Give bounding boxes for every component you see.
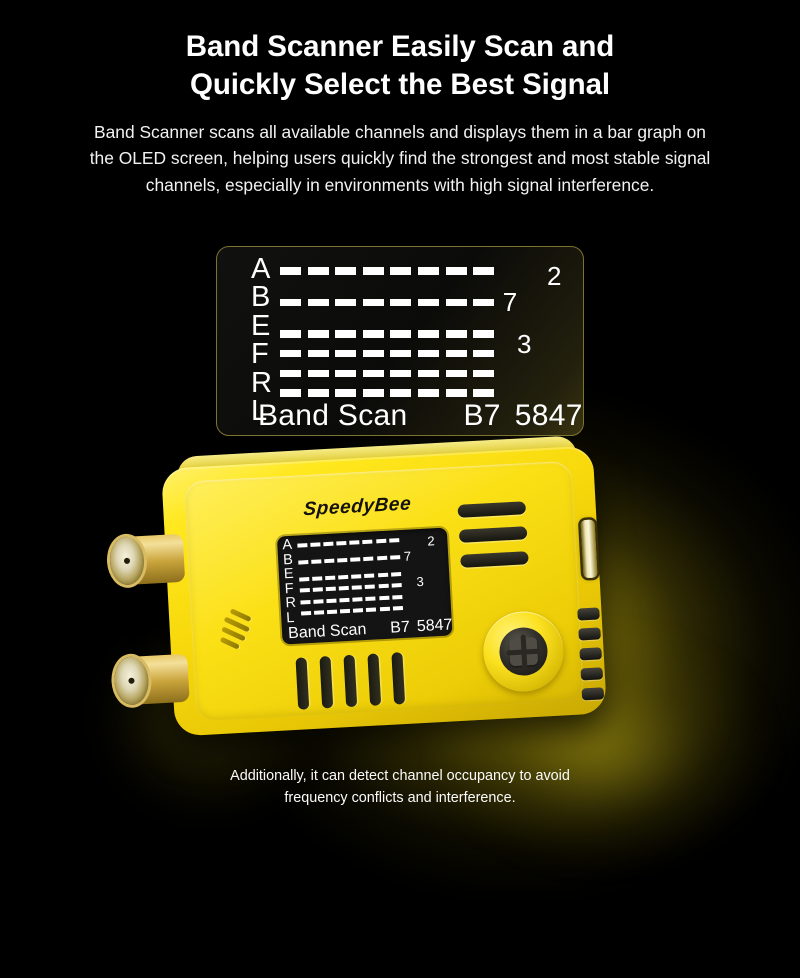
- hero-status-mode: Band Scan: [258, 399, 407, 433]
- sma-antenna-connector-bottom: [113, 654, 189, 706]
- scan-dash: [301, 611, 311, 616]
- scan-row-f: [280, 350, 530, 358]
- scan-dash: [280, 299, 301, 307]
- scan-dash: [390, 389, 411, 397]
- scan-dash: [280, 350, 301, 358]
- device-status-band: B7: [390, 619, 411, 638]
- hero-status-frequency: 5847: [515, 399, 583, 433]
- scan-dash: [326, 587, 336, 592]
- scan-dash: [418, 299, 439, 307]
- scan-dash: [389, 538, 399, 543]
- hero-status-band: B7: [463, 399, 500, 433]
- scan-dash: [418, 370, 439, 378]
- scan-dash: [418, 330, 439, 338]
- scan-dash: [363, 267, 384, 275]
- scan-dash: [390, 267, 411, 275]
- scan-dash: [335, 330, 356, 338]
- speedybee-band-scanner-device: SpeedyBee ABEFRL 7 2 3 Band Scan B7 5847: [161, 446, 607, 737]
- scan-dash: [308, 267, 329, 275]
- scan-dash: [335, 299, 356, 307]
- scan-dash: [300, 588, 310, 593]
- scan-dash: [363, 350, 384, 358]
- scan-bar-e: [280, 330, 501, 338]
- scan-dash: [391, 583, 401, 588]
- scan-dash: [390, 330, 411, 338]
- scan-dash: [363, 540, 373, 545]
- description-paragraph: Band Scanner scans all available channel…: [80, 119, 720, 198]
- hero-status-spacer: [407, 399, 463, 433]
- scan-dash: [366, 607, 376, 612]
- footnote-line-2: frequency conflicts and interference.: [0, 787, 800, 809]
- scan-dash: [390, 299, 411, 307]
- hero-status-bar: Band Scan B7 5847: [258, 399, 583, 433]
- scan-row-b: 7: [298, 549, 419, 570]
- scan-bar-a: [280, 267, 501, 275]
- scan-dash: [327, 610, 337, 615]
- band-letter-f: F: [251, 340, 272, 368]
- scan-dash: [337, 558, 347, 563]
- scan-dash: [310, 542, 320, 547]
- scan-dash: [446, 389, 467, 397]
- scan-row-r: [300, 594, 420, 604]
- sma-antenna-connector-top: [109, 534, 185, 586]
- scan-row-a: [280, 267, 530, 275]
- scan-dash: [313, 587, 323, 592]
- device-status-spacer: [366, 620, 391, 639]
- band-letter-e: E: [251, 312, 272, 340]
- device-stage: SpeedyBee ABEFRL 7 2 3 Band Scan B7 5847: [0, 443, 800, 763]
- scan-dash: [280, 267, 301, 275]
- device-front-panel: SpeedyBee ABEFRL 7 2 3 Band Scan B7 5847: [184, 461, 584, 722]
- scan-row-value-b: 7: [503, 287, 517, 318]
- scan-dash: [351, 557, 361, 562]
- scan-dash: [473, 267, 494, 275]
- scan-dash: [350, 540, 360, 545]
- scan-dash: [353, 608, 363, 613]
- left-vent-grille: [213, 604, 266, 657]
- scan-dash: [324, 559, 334, 564]
- joystick-stick[interactable]: [509, 637, 538, 666]
- scan-bar-r: [280, 370, 501, 378]
- scan-bar-e: [299, 572, 404, 582]
- scan-dash: [473, 299, 494, 307]
- hero-scan-rows: 7: [280, 267, 530, 397]
- scan-row-e: [280, 330, 530, 338]
- scan-dash: [393, 606, 403, 611]
- scan-dash: [280, 389, 301, 397]
- band-letter-a: A: [251, 255, 272, 283]
- device-status-bar: Band Scan B7 5847: [288, 616, 453, 643]
- headline-line-1: Band Scanner Easily Scan and: [0, 28, 800, 66]
- scan-dash: [308, 370, 329, 378]
- hero-oled-display: ABEFRL 7 2 3 Band Scan B7 5847: [216, 246, 584, 436]
- scan-dash: [335, 389, 356, 397]
- scan-bar-l: [301, 606, 406, 616]
- band-letter-r: R: [285, 596, 296, 611]
- scan-dash: [340, 609, 350, 614]
- scan-dash: [299, 577, 309, 582]
- speedybee-logo: SpeedyBee: [303, 493, 412, 521]
- scan-dash: [365, 585, 375, 590]
- scan-dash: [308, 389, 329, 397]
- scan-row-f: [300, 582, 420, 592]
- scan-bar-b: [280, 299, 501, 307]
- device-status-mode: Band Scan: [288, 621, 367, 643]
- scan-bar-l: [280, 389, 501, 397]
- scan-dash: [363, 370, 384, 378]
- scan-dash: [364, 556, 374, 561]
- scan-dash: [473, 350, 494, 358]
- scan-dash: [337, 541, 347, 546]
- headline-line-2: Quickly Select the Best Signal: [0, 66, 800, 104]
- scan-dash: [312, 576, 322, 581]
- scan-row-l: [301, 605, 421, 615]
- scan-dash: [280, 370, 301, 378]
- hero-side-number-top: 2: [547, 261, 561, 292]
- scan-bar-f: [280, 350, 501, 358]
- scan-dash: [353, 597, 363, 602]
- scan-dash: [473, 330, 494, 338]
- header-text-block: Band Scanner Easily Scan and Quickly Sel…: [0, 28, 800, 198]
- scan-dash: [327, 598, 337, 603]
- bottom-vent-grille: [295, 652, 410, 712]
- scan-dash: [308, 350, 329, 358]
- scan-dash: [366, 596, 376, 601]
- scan-dash: [391, 572, 401, 577]
- scan-dash: [340, 597, 350, 602]
- scan-bar-a: [297, 538, 402, 548]
- scan-dash: [392, 595, 402, 600]
- scan-row-l: [280, 389, 530, 397]
- sma-pin-top: [124, 558, 130, 564]
- band-letter-l: L: [286, 610, 297, 625]
- scan-dash: [298, 560, 308, 565]
- scan-dash: [378, 573, 388, 578]
- scan-dash: [446, 267, 467, 275]
- scan-dash: [325, 575, 335, 580]
- scan-dash: [314, 610, 324, 615]
- scan-dash: [352, 585, 362, 590]
- scan-dash: [379, 595, 389, 600]
- scan-bar-r: [300, 594, 405, 604]
- sma-pin-bottom: [128, 678, 134, 684]
- scan-dash: [446, 330, 467, 338]
- scan-dash: [418, 350, 439, 358]
- scan-bar-b: [298, 555, 403, 565]
- scan-dash: [390, 370, 411, 378]
- scan-dash: [280, 330, 301, 338]
- scan-dash: [335, 370, 356, 378]
- scan-dash: [308, 330, 329, 338]
- scan-dash: [311, 559, 321, 564]
- footer-caption: Additionally, it can detect channel occu…: [0, 765, 800, 810]
- scan-row-a: [297, 537, 417, 547]
- hero-side-number-middle: 3: [517, 329, 531, 360]
- scan-dash: [418, 389, 439, 397]
- scan-dash: [335, 350, 356, 358]
- scan-dash: [297, 543, 307, 548]
- scan-dash: [446, 299, 467, 307]
- scan-dash: [446, 350, 467, 358]
- band-letter-r: R: [251, 369, 272, 397]
- side-button-row[interactable]: [577, 607, 606, 704]
- scan-dash: [390, 350, 411, 358]
- scan-dash: [473, 389, 494, 397]
- scan-dash: [473, 370, 494, 378]
- scan-dash: [377, 556, 387, 561]
- scan-dash: [363, 389, 384, 397]
- scan-row-e: [299, 571, 419, 581]
- band-letter-e: E: [284, 567, 295, 582]
- page-title: Band Scanner Easily Scan and Quickly Sel…: [0, 28, 800, 105]
- scan-dash: [446, 370, 467, 378]
- scan-dash: [418, 267, 439, 275]
- footnote-line-1: Additionally, it can detect channel occu…: [0, 765, 800, 787]
- device-scan-rows: 7: [297, 537, 421, 615]
- top-vent-grille: [457, 501, 531, 577]
- device-status-frequency: 5847: [416, 616, 452, 636]
- band-letter-a: A: [282, 538, 293, 553]
- scan-bar-f: [300, 583, 405, 593]
- joystick-button[interactable]: [481, 609, 565, 693]
- scan-dash: [351, 574, 361, 579]
- scan-dash: [390, 555, 400, 560]
- scan-dash: [365, 573, 375, 578]
- scan-dash: [379, 607, 389, 612]
- device-band-letter-column: ABEFRL: [282, 538, 297, 625]
- band-letter-b: B: [251, 283, 272, 311]
- device-side-number-top: 2: [427, 533, 435, 548]
- scan-dash: [376, 539, 386, 544]
- hero-status-spacer-2: [501, 399, 515, 433]
- scan-dash: [313, 599, 323, 604]
- scan-dash: [335, 267, 356, 275]
- device-oled-display: ABEFRL 7 2 3 Band Scan B7 5847: [277, 528, 453, 645]
- scan-dash: [363, 299, 384, 307]
- scan-dash: [378, 584, 388, 589]
- scan-dash: [339, 586, 349, 591]
- scan-dash: [363, 330, 384, 338]
- device-side-number-middle: 3: [416, 574, 424, 589]
- scan-dash: [308, 299, 329, 307]
- scan-dash: [338, 575, 348, 580]
- scan-dash: [323, 542, 333, 547]
- scan-row-value-b: 7: [404, 549, 412, 564]
- scan-dash: [300, 600, 310, 605]
- scan-row-r: [280, 370, 530, 378]
- scan-row-b: 7: [280, 287, 530, 318]
